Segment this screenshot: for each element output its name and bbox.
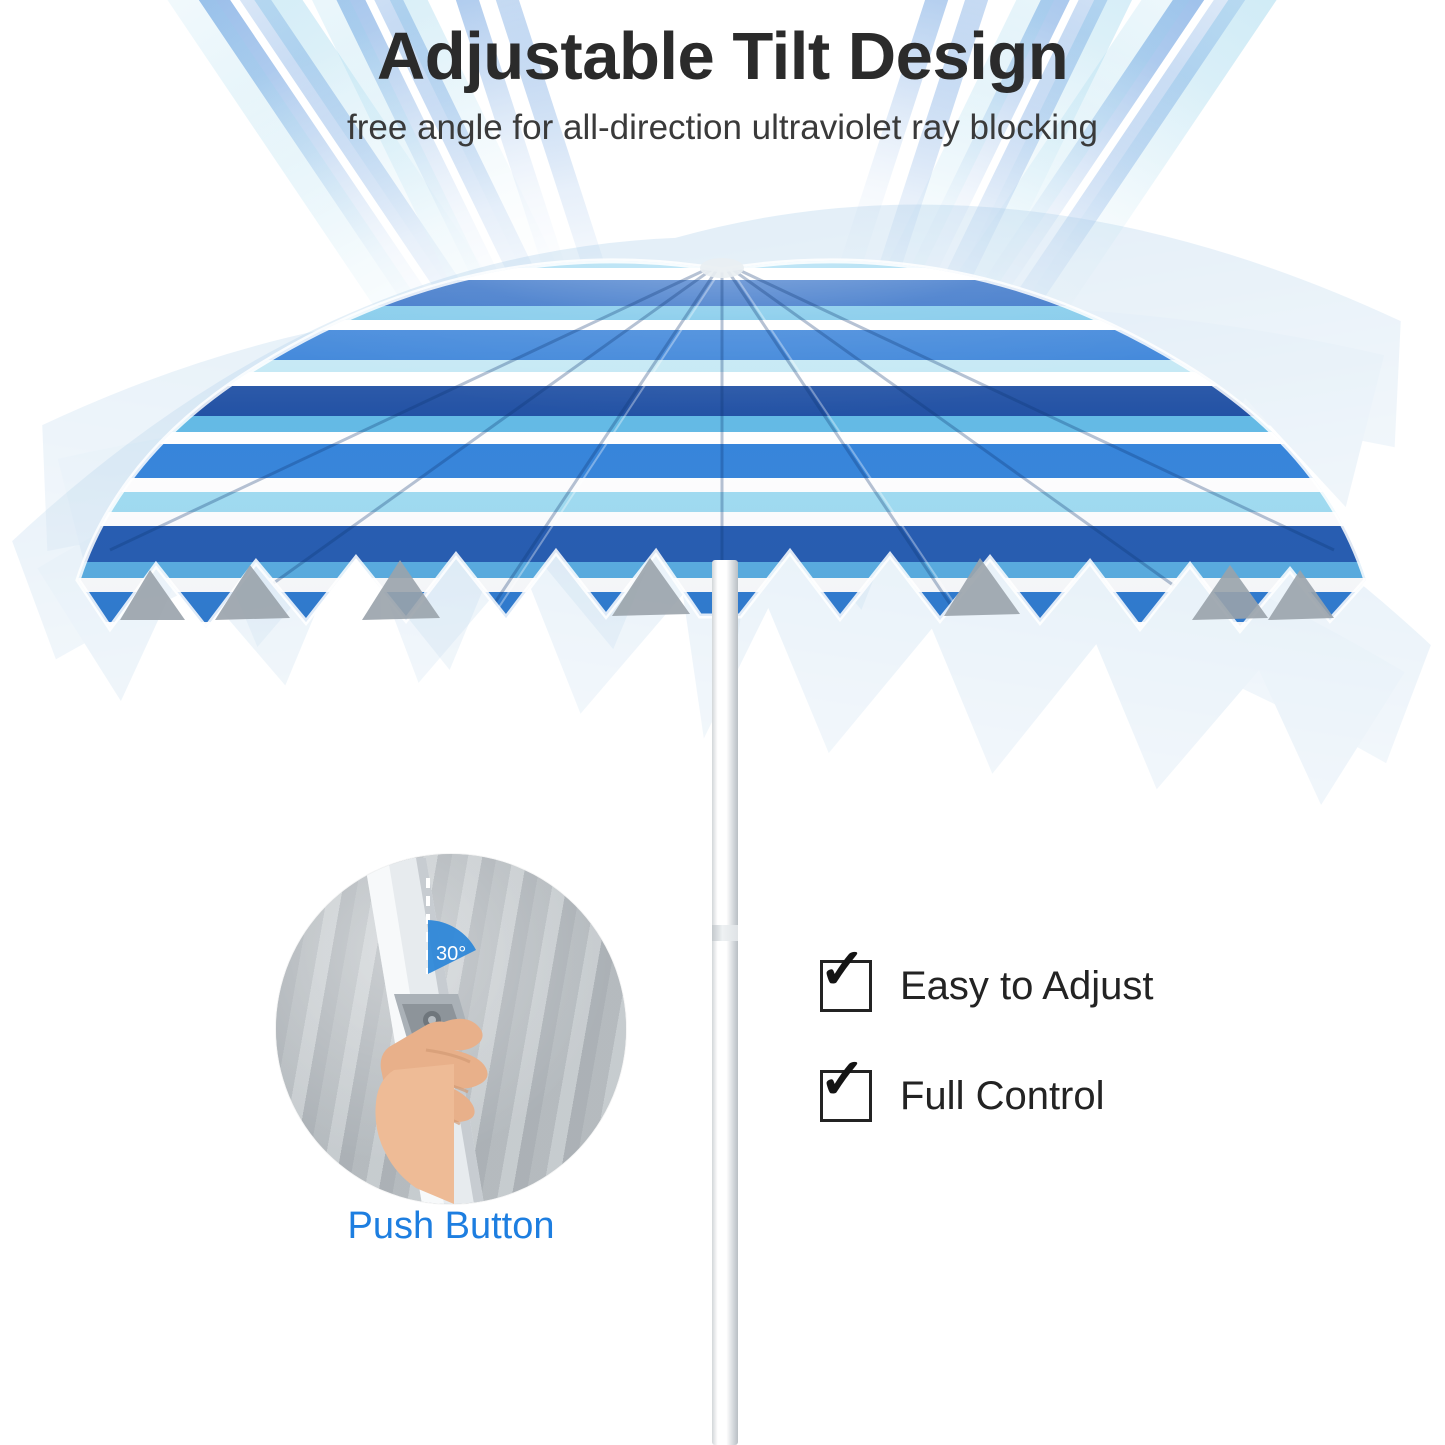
pole-joint	[712, 925, 738, 941]
checklist-item-easy-to-adjust: ✓ Easy to Adjust	[820, 960, 1153, 1012]
feature-checklist: ✓ Easy to Adjust ✓ Full Control	[820, 960, 1153, 1180]
checklist-item-full-control: ✓ Full Control	[820, 1070, 1153, 1122]
page-subtitle: free angle for all-direction ultraviolet…	[0, 108, 1445, 148]
umbrella-pole	[712, 560, 738, 1445]
angle-label: 30°	[436, 943, 466, 965]
header: Adjustable Tilt Design free angle for al…	[0, 22, 1445, 148]
push-button-detail-inset: 30°	[276, 854, 626, 1204]
checkbox-icon: ✓	[820, 1070, 872, 1122]
check-mark-icon: ✓	[819, 1051, 866, 1107]
push-button-caption: Push Button	[276, 1205, 626, 1248]
check-mark-icon: ✓	[819, 941, 866, 997]
product-infographic: Adjustable Tilt Design free angle for al…	[0, 0, 1445, 1445]
tilt-angle-icon: 30°	[428, 878, 476, 974]
checklist-label: Easy to Adjust	[900, 964, 1153, 1009]
checklist-label: Full Control	[900, 1074, 1105, 1119]
page-title: Adjustable Tilt Design	[0, 22, 1445, 92]
checkbox-icon: ✓	[820, 960, 872, 1012]
